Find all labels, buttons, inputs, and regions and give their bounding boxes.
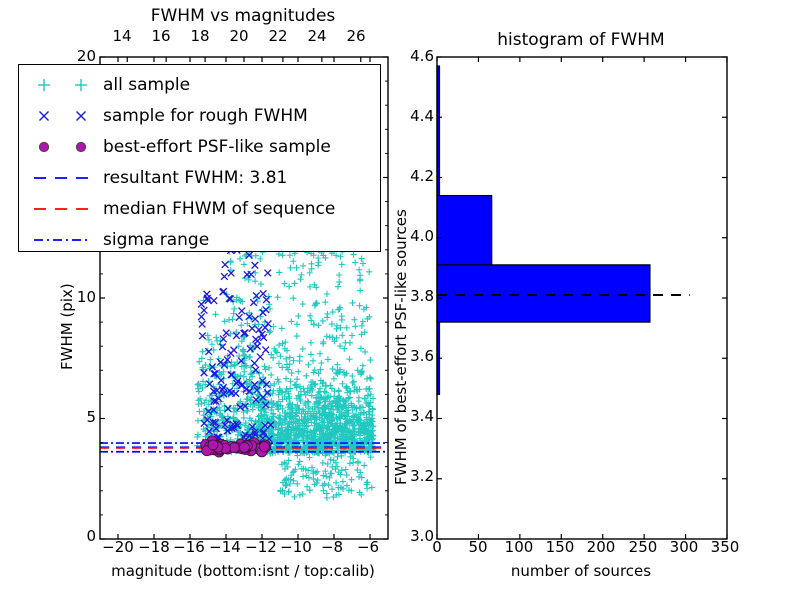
figure-canvas: FWHM vs magnitudes 14 16 18 20 22 24 26 …: [0, 0, 800, 600]
legend-item-median-fwhm: median FHWM of sequence: [25, 193, 374, 224]
x-tick-label: 250: [629, 538, 658, 556]
y-tick-label: 3.6: [410, 347, 434, 365]
x-tick-label: 300: [670, 538, 699, 556]
top-tick-label: 14: [112, 27, 131, 45]
cross-marker-key: [25, 108, 99, 124]
legend-label: sigma range: [99, 230, 209, 250]
x-tick-label: −8: [321, 538, 343, 556]
x-tick-label: 200: [587, 538, 616, 556]
x-tick-label: 350: [711, 538, 740, 556]
legend-item-rough-fwhm: sample for rough FWHM: [25, 100, 374, 131]
x-tick-label: −10: [280, 538, 312, 556]
dashed-line-key-red: [25, 201, 99, 217]
legend-label: all sample: [99, 75, 190, 95]
x-tick-label: 0: [432, 538, 442, 556]
legend-label: sample for rough FWHM: [99, 106, 308, 126]
legend-item-all-sample: all sample: [25, 69, 374, 100]
dot-marker-key: [25, 139, 99, 155]
x-tick-label: 50: [468, 538, 487, 556]
scatter-xlabel: magnitude (bottom:isnt / top:calib): [100, 562, 386, 580]
y-tick-label: 3.0: [410, 527, 434, 545]
top-tick-label: 20: [229, 27, 248, 45]
x-tick-label: −20: [102, 538, 134, 556]
histogram-panel-title: histogram of FWHM: [437, 30, 725, 50]
x-tick-label: −6: [357, 538, 379, 556]
x-tick-label: 150: [546, 538, 575, 556]
legend-box: all sample sample for rough FWHM best-ef…: [18, 64, 381, 252]
histogram-plot-area: [436, 56, 728, 540]
dashed-line-key-blue: [25, 170, 99, 186]
scatter-panel-title: FWHM vs magnitudes: [100, 6, 386, 26]
histogram-xlabel: number of sources: [437, 562, 725, 580]
x-tick-label: −12: [245, 538, 277, 556]
scatter-xtick-labels: −20 −18 −16 −14 −12 −10 −8 −6: [100, 538, 386, 558]
scatter-top-axis-ticklabels: 14 16 18 20 22 24 26: [100, 27, 386, 47]
scatter-ytick-20: 20: [72, 47, 96, 65]
scatter-ytick-0: 0: [72, 527, 96, 545]
top-tick-label: 18: [190, 27, 209, 45]
y-tick-label: 4.4: [410, 107, 434, 125]
x-tick-label: −18: [138, 538, 170, 556]
legend-label: median FHWM of sequence: [99, 199, 335, 219]
top-tick-label: 24: [307, 27, 326, 45]
plus-marker-key: [25, 77, 99, 93]
y-tick-label: 4.2: [410, 167, 434, 185]
histogram-ylabel: FWHM of best-effort PSF-like sources: [392, 209, 410, 485]
scatter-ytick-5: 5: [72, 408, 96, 426]
top-tick-label: 26: [346, 27, 365, 45]
x-tick-label: 100: [505, 538, 534, 556]
y-tick-label: 4.6: [410, 47, 434, 65]
top-tick-label: 16: [151, 27, 170, 45]
scatter-ylabel: FWHM (pix): [58, 283, 76, 370]
legend-item-psf-sample: best-effort PSF-like sample: [25, 131, 374, 162]
legend-label: best-effort PSF-like sample: [99, 137, 331, 157]
dashdot-line-key: [25, 232, 99, 248]
x-tick-label: −14: [209, 538, 241, 556]
legend-item-sigma-range: sigma range: [25, 224, 374, 255]
y-tick-label: 3.4: [410, 407, 434, 425]
top-tick-label: 22: [268, 27, 287, 45]
y-tick-label: 3.8: [410, 287, 434, 305]
y-tick-label: 3.2: [410, 467, 434, 485]
y-tick-label: 4.0: [410, 227, 434, 245]
legend-item-resultant-fwhm: resultant FWHM: 3.81: [25, 162, 374, 193]
x-tick-label: −16: [173, 538, 205, 556]
legend-label: resultant FWHM: 3.81: [99, 168, 287, 188]
histogram-xtick-labels: 0 50 100 150 200 250 300 350: [437, 538, 725, 558]
